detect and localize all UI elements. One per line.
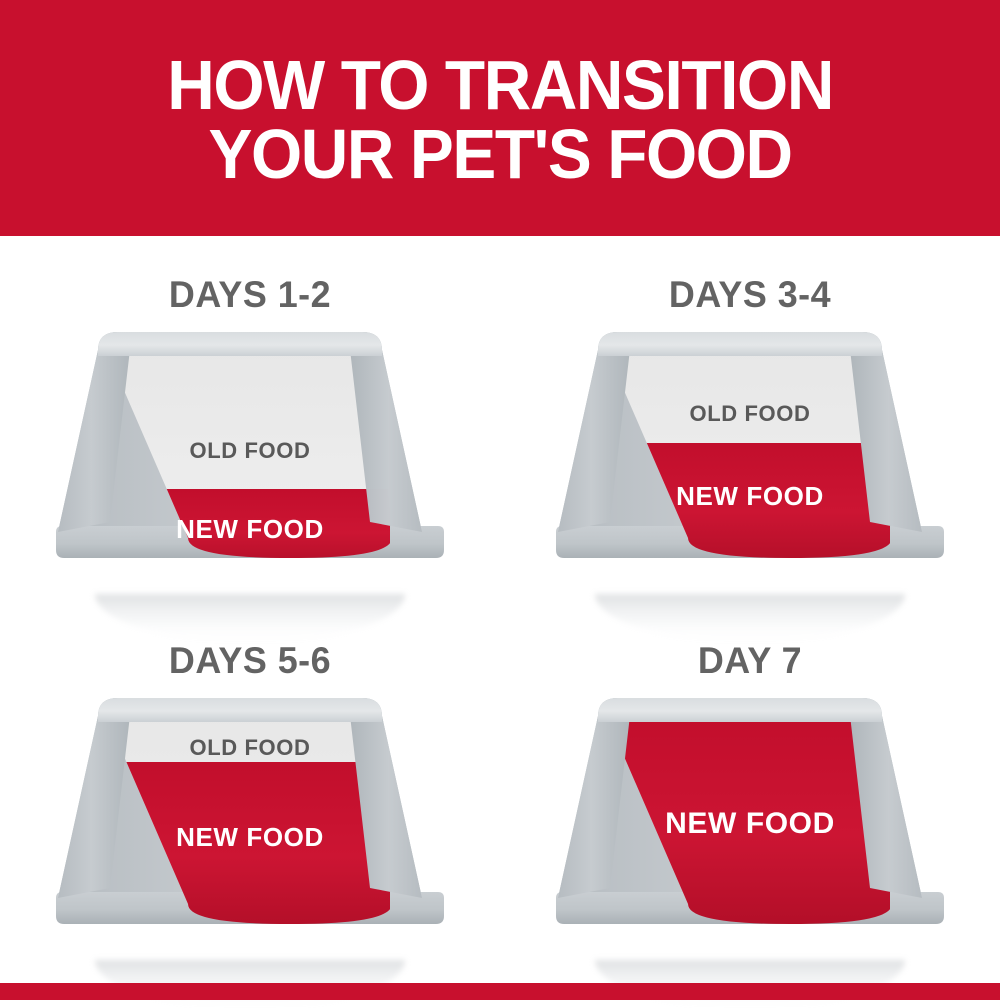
bowl-rim	[598, 332, 882, 356]
bowl-graphic	[0, 326, 500, 596]
bowl-graphic	[0, 692, 500, 962]
page-title-line-1: HOW TO TRANSITION	[167, 46, 833, 124]
bowl-rim	[98, 332, 382, 356]
panel-title: DAY 7	[508, 640, 993, 682]
bowl-illustration: NEW FOOD	[500, 692, 1000, 962]
panel-title: DAYS 5-6	[8, 640, 493, 682]
bowl-illustration: OLD FOOD NEW FOOD	[500, 326, 1000, 596]
bowl-illustration: OLD FOOD NEW FOOD	[0, 326, 500, 596]
bowl-panel: DAY 7	[500, 620, 1000, 990]
page-title-line-2: YOUR PET'S FOOD	[167, 120, 833, 189]
bowl-panel-grid: DAYS 1-2	[0, 236, 1000, 983]
bowl-rim	[98, 698, 382, 722]
bowl-panel: DAYS 5-6	[0, 620, 500, 990]
bowl-graphic	[500, 326, 1000, 596]
panel-title: DAYS 1-2	[8, 274, 493, 316]
panel-title: DAYS 3-4	[508, 274, 993, 316]
header-banner: HOW TO TRANSITION YOUR PET'S FOOD	[0, 0, 1000, 236]
bowl-illustration: OLD FOOD NEW FOOD	[0, 692, 500, 962]
bowl-panel: DAYS 3-4	[500, 254, 1000, 624]
bowl-panel: DAYS 1-2	[0, 254, 500, 624]
page-title: HOW TO TRANSITION YOUR PET'S FOOD	[167, 47, 833, 188]
bowl-rim	[598, 698, 882, 722]
footer-bar	[0, 983, 1000, 1000]
bowl-graphic	[500, 692, 1000, 962]
